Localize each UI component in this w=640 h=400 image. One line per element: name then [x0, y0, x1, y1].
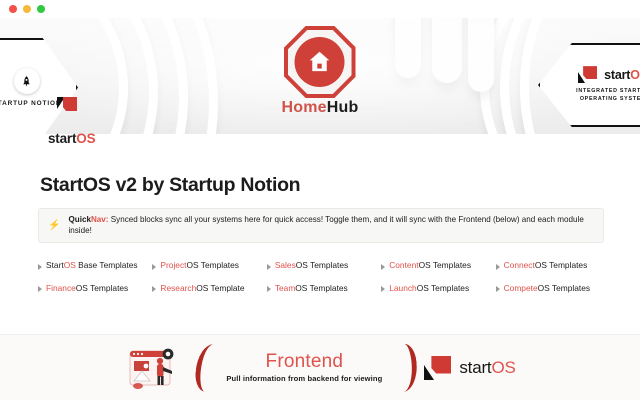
startos-badge-subtitle: INTEGRATED STARTUP OPERATING SYSTEM — [576, 88, 640, 104]
list-item[interactable]: FinanceOS Templates — [38, 283, 146, 295]
quicknav-column: ConnectOS Templates CompeteOS Templates — [496, 260, 610, 306]
homehub-title-part2: Hub — [327, 99, 359, 116]
chevron-right-icon[interactable] — [496, 264, 500, 270]
startos-wordmark-part1: start — [48, 131, 76, 146]
list-item-label: ResearchOS Template — [160, 283, 244, 295]
list-item-label: LaunchOS Templates — [389, 283, 469, 295]
list-item-label: StartOS Base Templates — [46, 260, 138, 272]
footer-startos-text: startOS — [459, 358, 515, 378]
homehub-title-part1: Home — [282, 99, 327, 116]
page-title: StartOS v2 by Startup Notion — [40, 174, 640, 197]
quicknav-label-red: Nav: — [91, 215, 109, 224]
startos-wordmark: startOS — [48, 131, 95, 146]
window-titlebar — [0, 0, 640, 18]
list-item[interactable]: StartOS Base Templates — [38, 260, 146, 272]
startos-flag-icon — [424, 356, 454, 380]
list-item[interactable]: ConnectOS Templates — [496, 260, 604, 272]
rocket-icon — [14, 68, 40, 94]
startos-badge-subtitle-line1: INTEGRATED STARTUP — [576, 88, 640, 96]
chevron-right-icon[interactable] — [267, 264, 271, 270]
chevron-right-icon[interactable] — [381, 286, 385, 292]
startos-flag-icon — [57, 97, 79, 113]
footer-startos-logo: startOS — [424, 356, 515, 380]
list-item-label: TeamOS Templates — [275, 283, 348, 295]
home-icon — [284, 26, 356, 98]
homehub-title: HomeHub — [282, 99, 359, 117]
quicknav-callout-text: QuickNav: Synced blocks sync all your sy… — [68, 215, 594, 236]
startos-logo-part1: start — [604, 68, 630, 82]
quicknav-column: ProjectOS Templates ResearchOS Template — [152, 260, 266, 306]
chevron-right-icon[interactable] — [38, 286, 42, 292]
quicknav-columns: StartOS Base Templates FinanceOS Templat… — [38, 260, 610, 306]
startup-notion-label: STARTUP NOTION — [0, 100, 61, 107]
footer-logo-part2: OS — [491, 358, 515, 377]
startos-flag-icon — [578, 66, 600, 83]
list-item-label: ProjectOS Templates — [160, 260, 239, 272]
startos-badge-logo-text: startOS — [604, 68, 640, 82]
startos-badge-subtitle-line2: OPERATING SYSTEM — [576, 96, 640, 104]
quicknav-callout: ⚡ QuickNav: Synced blocks sync all your … — [38, 208, 604, 243]
list-item[interactable]: TeamOS Templates — [267, 283, 375, 295]
main-content: StartOS v2 by Startup Notion ⚡ QuickNav:… — [0, 160, 640, 335]
list-item[interactable]: SalesOS Templates — [267, 260, 375, 272]
list-item[interactable]: ResearchOS Template — [152, 283, 260, 295]
chevron-right-icon[interactable] — [152, 264, 156, 270]
list-item-label: FinanceOS Templates — [46, 283, 128, 295]
chevron-right-icon[interactable] — [267, 286, 271, 292]
list-item[interactable]: ProjectOS Templates — [152, 260, 260, 272]
list-item-label: ContentOS Templates — [389, 260, 471, 272]
list-item[interactable]: LaunchOS Templates — [381, 283, 489, 295]
list-item-label: ConnectOS Templates — [504, 260, 588, 272]
frontend-illustration — [124, 345, 186, 391]
frontend-subtitle: Pull information from backend for viewin… — [226, 374, 382, 383]
chevron-right-icon[interactable] — [152, 286, 156, 292]
footer-logo-part1: start — [459, 358, 491, 377]
hero-banner: STARTUP NOTION HomeHub — [0, 18, 640, 134]
list-item[interactable]: ContentOS Templates — [381, 260, 489, 272]
quicknav-body: Synced blocks sync all your systems here… — [68, 215, 583, 235]
lightning-bolt-icon: ⚡ — [48, 221, 60, 231]
list-item-label: SalesOS Templates — [275, 260, 348, 272]
quicknav-column: ContentOS Templates LaunchOS Templates — [381, 260, 495, 306]
close-button[interactable] — [9, 5, 17, 13]
frontend-title: Frontend — [226, 352, 382, 372]
homehub-logo: HomeHub — [282, 26, 359, 117]
list-item[interactable]: CompeteOS Templates — [496, 283, 604, 295]
startos-logo-part2: OS — [630, 68, 640, 82]
quicknav-label-dark: Quick — [68, 215, 91, 224]
chevron-right-icon[interactable] — [381, 264, 385, 270]
quicknav-column: SalesOS Templates TeamOS Templates — [267, 260, 381, 306]
minimize-button[interactable] — [23, 5, 31, 13]
decor-swoosh-left — [190, 342, 216, 394]
list-item-label: CompeteOS Templates — [504, 283, 590, 295]
quicknav-column: StartOS Base Templates FinanceOS Templat… — [38, 260, 152, 306]
decor-swoosh-right — [392, 342, 418, 394]
app-window: STARTUP NOTION HomeHub — [0, 0, 640, 400]
startos-wordmark-part2: OS — [76, 131, 95, 146]
chevron-right-icon[interactable] — [38, 264, 42, 270]
chevron-right-icon[interactable] — [496, 286, 500, 292]
zoom-button[interactable] — [37, 5, 45, 13]
frontend-banner[interactable]: Frontend Pull information from backend f… — [0, 334, 640, 400]
